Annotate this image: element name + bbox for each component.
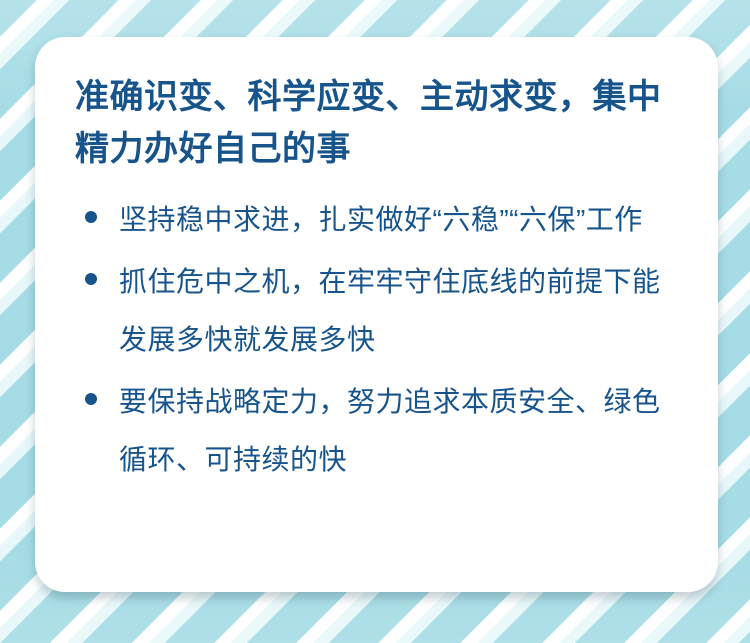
page-title: 准确识变、科学应变、主动求变，集中 精力办好自己的事 (75, 71, 678, 175)
poster-background: 准确识变、科学应变、主动求变，集中 精力办好自己的事 坚持稳中求进，扎实做好“六… (0, 0, 750, 643)
list-item-text: 抓住危中之机，在牢牢守住底线的前提下能发展多快就发展多快 (119, 253, 678, 369)
bullet-dot-icon (85, 393, 97, 405)
list-item: 坚持稳中求进，扎实做好“六稳”“六保”工作 (75, 191, 678, 249)
bullet-dot-icon (85, 211, 97, 223)
bullet-list: 坚持稳中求进，扎实做好“六稳”“六保”工作 抓住危中之机，在牢牢守住底线的前提下… (75, 191, 678, 489)
list-item: 要保持战略定力，努力追求本质安全、绿色循环、可持续的快 (75, 373, 678, 489)
bullet-dot-icon (85, 273, 97, 285)
list-item-text: 坚持稳中求进，扎实做好“六稳”“六保”工作 (119, 191, 678, 249)
list-item: 抓住危中之机，在牢牢守住底线的前提下能发展多快就发展多快 (75, 253, 678, 369)
list-item-text: 要保持战略定力，努力追求本质安全、绿色循环、可持续的快 (119, 373, 678, 489)
content-card: 准确识变、科学应变、主动求变，集中 精力办好自己的事 坚持稳中求进，扎实做好“六… (35, 37, 718, 592)
